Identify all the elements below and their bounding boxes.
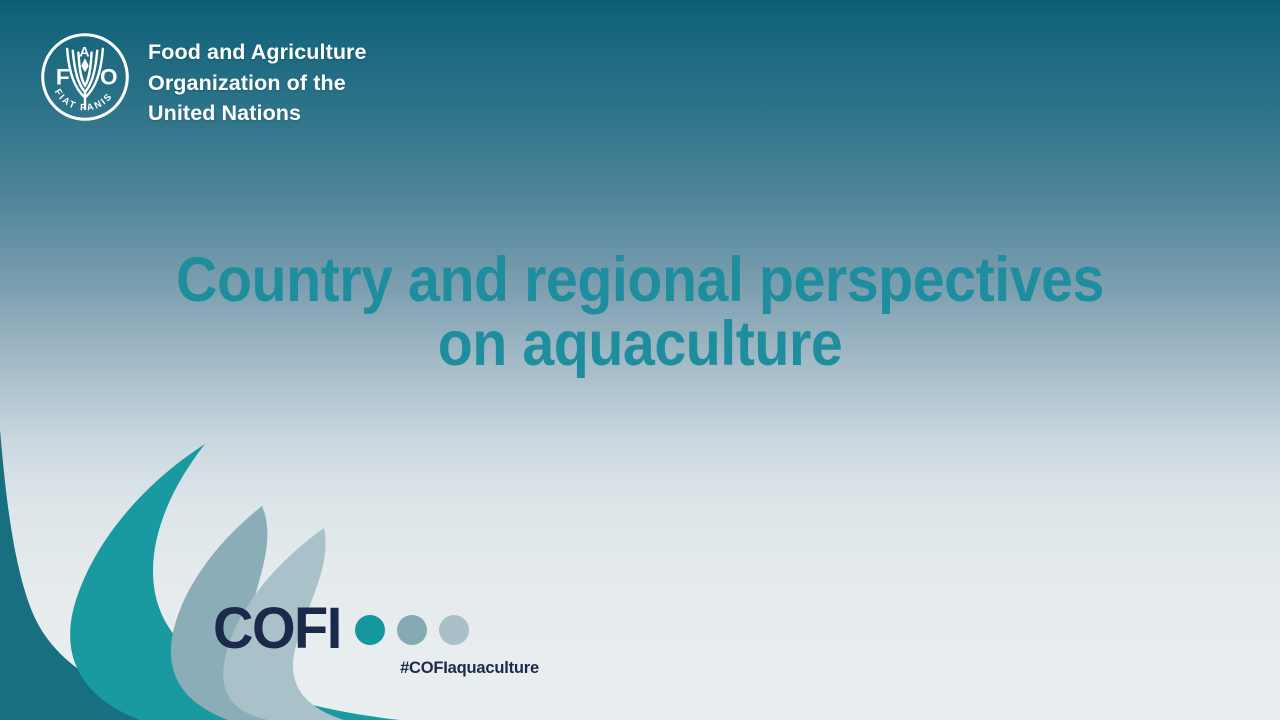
cofi-logo: COFI #COFIaquaculture [213,603,543,693]
cofi-wordmark: COFI [213,602,341,654]
cofi-dot-teal [355,615,385,645]
fao-emblem-icon: F O A FIAT PANIS [38,30,132,124]
svg-text:A: A [79,43,89,59]
slide-title-line-1: Country and regional perspectives [58,248,1223,312]
fao-wordmark-line-1: Food and Agriculture [148,37,367,68]
fao-wordmark-line-3: United Nations [148,98,367,129]
cofi-logo-row: COFI [213,603,543,653]
presentation-slide: F O A FIAT PANIS Food and Agriculture Or… [0,0,1280,720]
cofi-hashtag: #COFIaquaculture [213,659,543,678]
slide-title: Country and regional perspectives on aqu… [58,248,1223,377]
fao-logo: F O A FIAT PANIS Food and Agriculture Or… [38,30,367,129]
svg-text:O: O [100,65,118,90]
fao-wordmark-line-2: Organization of the [148,68,367,99]
svg-text:F: F [56,65,70,90]
fao-wordmark: Food and Agriculture Organization of the… [148,37,367,129]
cofi-dot-group [355,615,469,645]
slide-title-line-2: on aquaculture [58,312,1223,376]
cofi-dot-medium [397,615,427,645]
cofi-dot-light [439,615,469,645]
